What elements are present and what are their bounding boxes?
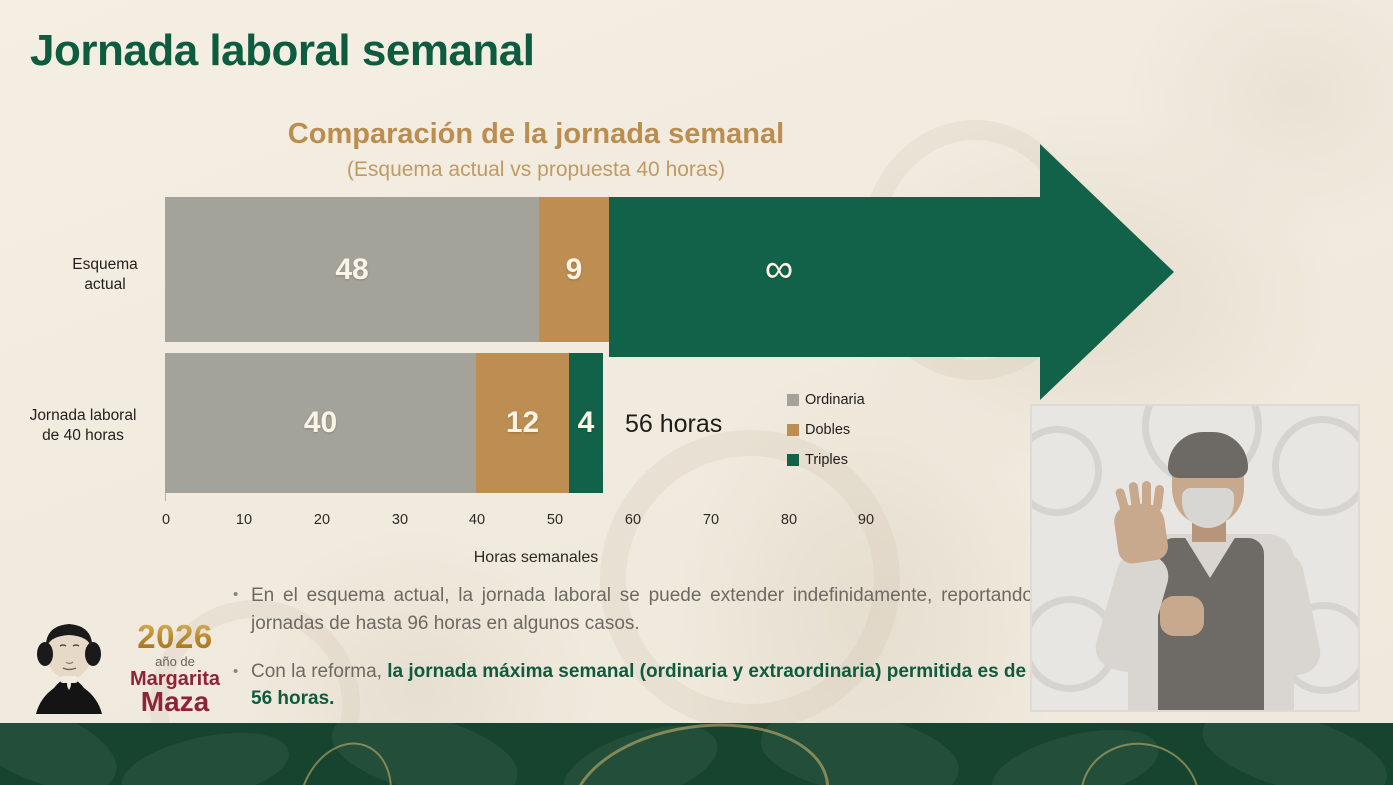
x-tick-10: 10: [236, 512, 252, 528]
bullet-list: • En el esquema actual, la jornada labor…: [233, 582, 1033, 735]
bar1-value-ordinaria: 48: [335, 253, 368, 287]
category-label-line2: de 40 horas: [3, 426, 163, 446]
bar1-segment-dobles: 9: [539, 197, 609, 342]
chart-legend: Ordinaria Dobles Triples: [787, 392, 865, 482]
bullet-body-2: Con la reforma, la jornada máxima semana…: [251, 659, 1033, 713]
bar2-segment-dobles: 12: [476, 353, 569, 493]
interpreter-finger-3: [1142, 481, 1151, 507]
category-label-esquema-actual: Esquema actual: [25, 255, 185, 295]
legend-swatch-triples: [787, 454, 799, 466]
bar1-value-dobles: 9: [566, 253, 583, 287]
category-label-line1: Jornada laboral: [3, 406, 163, 426]
x-tick-50: 50: [547, 512, 563, 528]
x-axis-title: Horas semanales: [165, 549, 907, 567]
interpreter-closed-hand: [1160, 596, 1204, 636]
band-leaf-1: [0, 723, 127, 785]
legend-item-ordinaria: Ordinaria: [787, 392, 865, 408]
legend-swatch-ordinaria: [787, 394, 799, 406]
bar2-value-ordinaria: 40: [304, 406, 337, 440]
interpreter-vest-neckline: [1184, 536, 1236, 578]
category-label-jornada-40: Jornada laboral de 40 horas: [3, 406, 163, 446]
x-tick-20: 20: [314, 512, 330, 528]
total-hours-label: 56 horas: [625, 410, 722, 439]
axis-origin-tick: [165, 493, 166, 501]
bullet-text-2-lead: Con la reforma,: [251, 661, 387, 682]
legend-label-ordinaria: Ordinaria: [805, 392, 865, 408]
chart-title: Comparación de la jornada semanal: [165, 118, 907, 151]
logo-ano-de: año de: [114, 655, 236, 668]
legend-label-dobles: Dobles: [805, 422, 850, 438]
category-label-line1: Esquema: [25, 255, 185, 275]
bar2-segment-triples: 4: [569, 353, 603, 493]
logo-name-last: Maza: [114, 689, 236, 716]
sign-language-interpreter-panel: [1030, 404, 1360, 712]
infinite-arrow-head: [1040, 144, 1174, 400]
x-tick-70: 70: [703, 512, 719, 528]
x-tick-0: 0: [162, 512, 170, 528]
band-leaf-7: [1194, 723, 1393, 785]
category-label-line2: actual: [25, 275, 185, 295]
bullet-item-2: • Con la reforma, la jornada máxima sema…: [233, 659, 1033, 713]
bullet-item-1: • En el esquema actual, la jornada labor…: [233, 582, 1033, 637]
x-tick-30: 30: [392, 512, 408, 528]
bar1-segment-triples: ∞: [609, 197, 949, 342]
logo-year: 2026: [114, 620, 236, 653]
legend-swatch-dobles: [787, 424, 799, 436]
margarita-maza-portrait-icon: [30, 618, 108, 714]
x-tick-80: 80: [781, 512, 797, 528]
x-tick-60: 60: [625, 512, 641, 528]
bar2-value-triples: 4: [578, 406, 595, 440]
margarita-maza-logo: 2026 año de Margarita Maza: [30, 618, 235, 718]
x-tick-40: 40: [469, 512, 485, 528]
bullet-text-1: En el esquema actual, la jornada laboral…: [251, 582, 1033, 637]
chart-subtitle: (Esquema actual vs propuesta 40 horas): [165, 158, 907, 182]
legend-label-triples: Triples: [805, 452, 848, 468]
margarita-maza-text: 2026 año de Margarita Maza: [114, 620, 236, 716]
legend-item-triples: Triples: [787, 452, 865, 468]
bullet-text-2: Con la reforma, la jornada máxima semana…: [251, 659, 1033, 713]
legend-item-dobles: Dobles: [787, 422, 865, 438]
bar2-value-dobles: 12: [506, 406, 539, 440]
bar1-segment-ordinaria: 48: [165, 197, 539, 342]
bar2-segment-ordinaria: 40: [165, 353, 476, 493]
x-tick-90: 90: [858, 512, 874, 528]
bullet-body-1: En el esquema actual, la jornada laboral…: [251, 582, 1033, 637]
footer-decorative-band: [0, 723, 1393, 785]
bar1-value-triples-infinity: ∞: [765, 247, 794, 292]
band-leaf-2: [115, 723, 294, 785]
